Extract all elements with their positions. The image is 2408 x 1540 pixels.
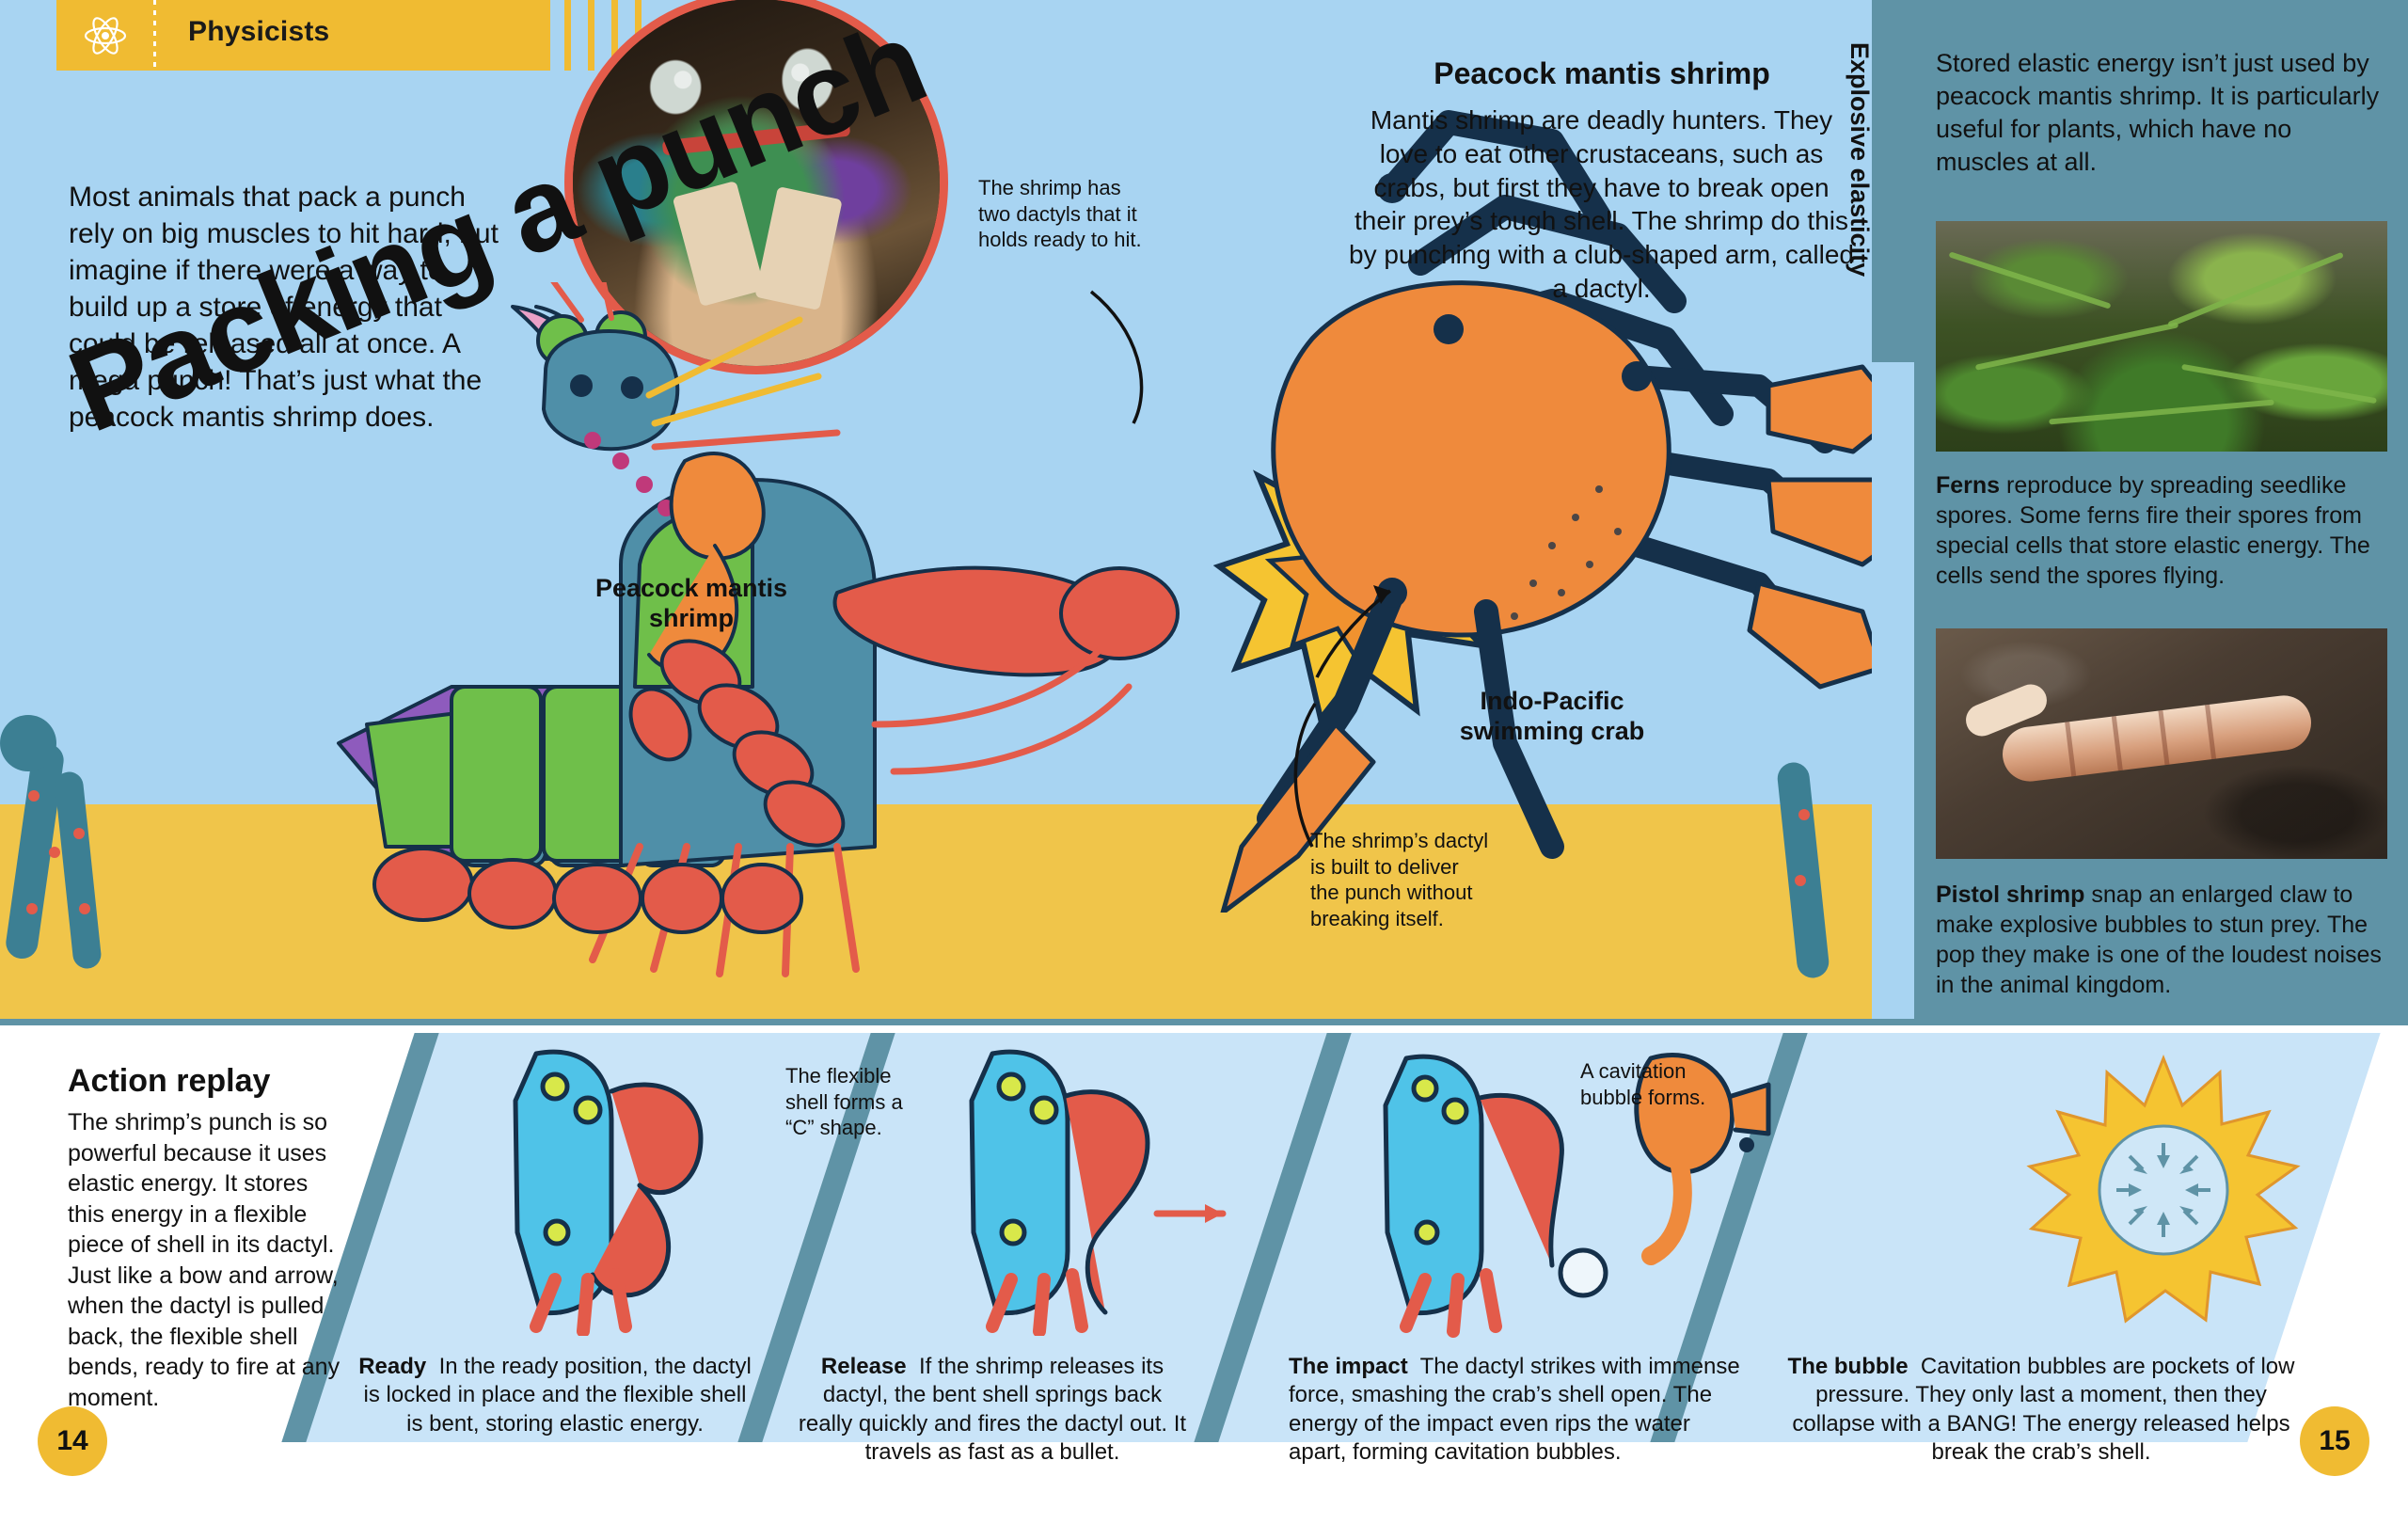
category-label: Physicists <box>188 16 329 48</box>
fern-caption: Ferns reproduce by spreading seedlike sp… <box>1936 470 2387 591</box>
tag-dotted-divider <box>153 0 156 71</box>
replay-art-ready <box>499 1044 771 1336</box>
shrimp-segment <box>2112 716 2123 770</box>
sidebar-intro: Stored elastic energy isn’t just used by… <box>1936 47 2387 179</box>
pistol-caption-bold: Pistol shrimp <box>1936 881 2084 908</box>
atom-icon <box>83 13 128 58</box>
seaweed-dot <box>28 790 40 802</box>
seaweed-dot <box>73 828 85 839</box>
shrimp-segment <box>2065 722 2076 776</box>
label-peacock-mantis-shrimp: Peacock mantis shrimp <box>583 574 800 634</box>
sidebar-vertical-title: Explosive elasticity <box>1845 42 1874 325</box>
caption-release: Release If the shrimp releases its dacty… <box>795 1353 1190 1468</box>
caption-bubble-bold: The bubble <box>1788 1354 1909 1379</box>
page-number-right: 15 <box>2300 1406 2369 1476</box>
seaweed-dot <box>79 903 90 914</box>
fern-photo <box>1936 221 2387 452</box>
caption-bubble: The bubble Cavitation bubbles are pocket… <box>1787 1353 2295 1468</box>
caption-impact-bold: The impact <box>1289 1354 1408 1379</box>
action-replay-title: Action replay <box>68 1063 270 1100</box>
sidebar-tab <box>1872 0 1914 362</box>
tag-tick <box>564 0 571 71</box>
replay-art-bubble <box>2022 1054 2305 1326</box>
action-replay-body: The shrimp’s punch is so powerful becaus… <box>68 1107 350 1413</box>
caption-release-bold: Release <box>821 1354 907 1379</box>
seaweed-blob <box>0 715 56 771</box>
fern-photo-content <box>1936 221 2387 452</box>
fern-caption-bold: Ferns <box>1936 472 2000 499</box>
caption-ready-bold: Ready <box>358 1354 426 1379</box>
caption-ready: Ready In the ready position, the dactyl … <box>357 1353 752 1438</box>
magazine-spread: Physicists Most animals that pack a punc… <box>0 0 2408 1540</box>
fern-caption-text: reproduce by spreading seedlike spores. … <box>1936 472 2370 589</box>
seaweed-dot <box>49 847 60 858</box>
sidebar-notch <box>1872 362 1914 1025</box>
note-cavitation-bubble: A cavitation bubble forms. <box>1580 1058 1740 1110</box>
caption-impact: The impact The dactyl strikes with immen… <box>1289 1353 1750 1468</box>
leader-lines <box>941 235 1467 913</box>
pistol-shrimp-photo <box>1936 628 2387 859</box>
shrimp-segment <box>2205 705 2216 759</box>
section-title-peacock-mantis-shrimp: Peacock mantis shrimp <box>1400 56 1804 91</box>
seaweed-dot <box>26 903 38 914</box>
shrimp-segment <box>2158 710 2169 765</box>
page-number-left: 14 <box>38 1406 107 1476</box>
pistol-shrimp-caption: Pistol shrimp snap an enlarged claw to m… <box>1936 880 2387 1000</box>
replay-art-release <box>955 1044 1237 1336</box>
note-c-shape: The flexible shell forms a “C” shape. <box>785 1063 936 1141</box>
label-indo-pacific-crab: Indo-Pacific swimming crab <box>1449 687 1655 747</box>
